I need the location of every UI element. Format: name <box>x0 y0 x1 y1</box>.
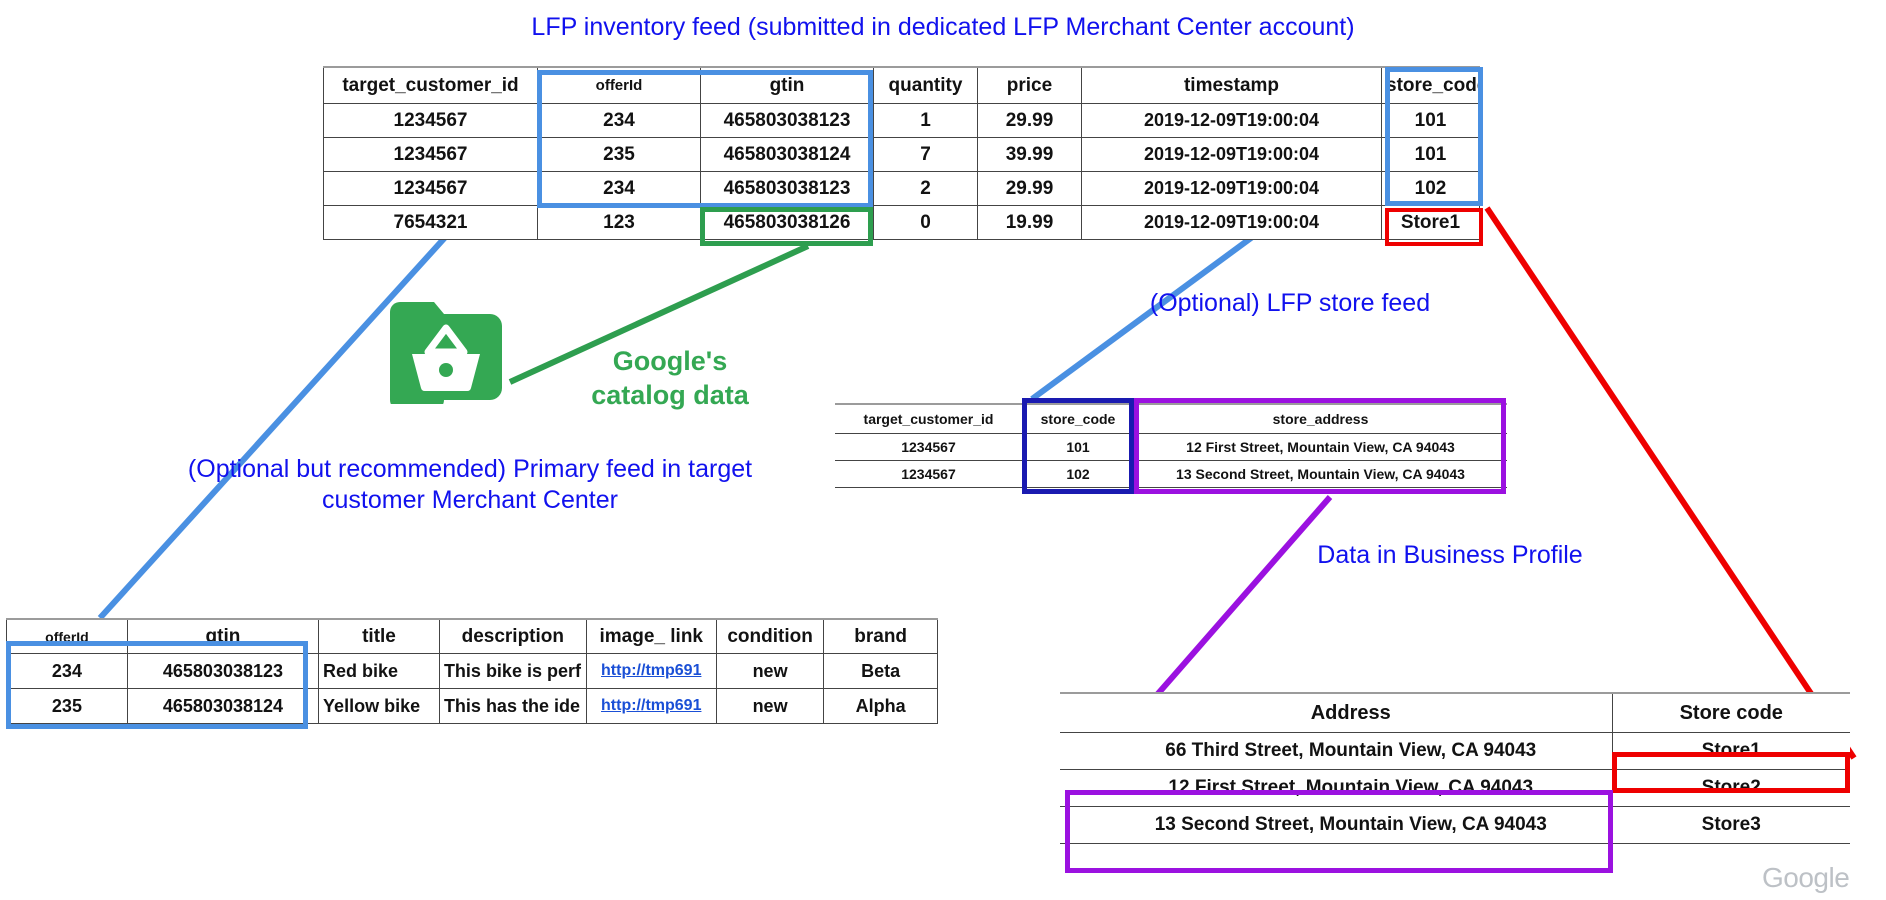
cell-address: 66 Third Street, Mountain View, CA 94043 <box>1090 733 1612 770</box>
title-business-profile: Data in Business Profile <box>1140 540 1760 571</box>
cell-spacer <box>1060 733 1090 770</box>
cell-target-customer-id: 1234567 <box>324 172 538 206</box>
cell-timestamp: 2019-12-09T19:00:04 <box>1082 138 1382 172</box>
title-primary-feed: (Optional but recommended) Primary feed … <box>160 454 780 516</box>
highlight-box-storefeed-store-code <box>1022 398 1134 494</box>
table-row: 1234567 234 465803038123 2 29.99 2019-12… <box>324 172 1480 206</box>
col-description: description <box>439 619 586 654</box>
cell-price: 19.99 <box>978 206 1082 240</box>
cell-title: Red bike <box>319 654 440 689</box>
cell-description: This bike is perf <box>439 654 586 689</box>
col-image-link: image_ link <box>586 619 716 654</box>
diagram-canvas: LFP inventory feed (submitted in dedicat… <box>0 0 1886 900</box>
cell-price: 29.99 <box>978 104 1082 138</box>
cell-brand: Alpha <box>824 689 938 724</box>
cell-description: This has the ide <box>439 689 586 724</box>
cell-quantity: 7 <box>874 138 978 172</box>
google-watermark: Google <box>1762 862 1849 894</box>
table-header-row: target_customer_id offerId gtin quantity… <box>324 67 1480 104</box>
cell-timestamp: 2019-12-09T19:00:04 <box>1082 172 1382 206</box>
cell-title: Yellow bike <box>319 689 440 724</box>
title-lfp-store-feed: (Optional) LFP store feed <box>1080 288 1500 319</box>
cell-image-link[interactable]: http://tmp691 <box>586 654 716 689</box>
lfp-inventory-feed-table: target_customer_id offerId gtin quantity… <box>323 66 1480 240</box>
highlight-box-primary-offerid-gtin <box>6 641 308 729</box>
cell-price: 39.99 <box>978 138 1082 172</box>
cell-target-customer-id: 1234567 <box>835 434 1022 461</box>
cell-timestamp: 2019-12-09T19:00:04 <box>1082 206 1382 240</box>
highlight-box-bp-store1 <box>1612 752 1850 793</box>
table-row: 7654321 123 465803038126 0 19.99 2019-12… <box>324 206 1480 240</box>
col-target-customer-id: target_customer_id <box>835 404 1022 434</box>
cell-target-customer-id: 7654321 <box>324 206 538 240</box>
cell-target-customer-id: 1234567 <box>835 461 1022 488</box>
col-address: Address <box>1090 693 1612 733</box>
col-timestamp: timestamp <box>1082 67 1382 104</box>
col-store-code: Store code <box>1612 693 1850 733</box>
cell-target-customer-id: 1234567 <box>324 104 538 138</box>
cell-brand: Beta <box>824 654 938 689</box>
highlight-box-bp-addresses <box>1065 790 1613 873</box>
col-title: title <box>319 619 440 654</box>
cell-quantity: 0 <box>874 206 978 240</box>
highlight-box-offerid-gtin <box>537 70 873 208</box>
table-row: 1234567 234 465803038123 1 29.99 2019-12… <box>324 104 1480 138</box>
col-brand: brand <box>824 619 938 654</box>
cell-condition: new <box>716 689 823 724</box>
cell-image-link[interactable]: http://tmp691 <box>586 689 716 724</box>
highlight-box-store1-inventory <box>1385 208 1483 246</box>
connector-red-store1 <box>1487 208 1854 758</box>
cell-store-code: Store3 <box>1612 807 1850 844</box>
highlight-box-store-code <box>1385 67 1483 206</box>
folder-basket-icon <box>382 294 510 404</box>
table-header-row: Address Store code <box>1060 693 1850 733</box>
cell-timestamp: 2019-12-09T19:00:04 <box>1082 104 1382 138</box>
col-condition: condition <box>716 619 823 654</box>
cell-quantity: 2 <box>874 172 978 206</box>
col-price: price <box>978 67 1082 104</box>
table-row: 1234567 235 465803038124 7 39.99 2019-12… <box>324 138 1480 172</box>
cell-offerid: 123 <box>538 206 701 240</box>
col-spacer <box>1060 693 1090 733</box>
col-target-customer-id: target_customer_id <box>324 67 538 104</box>
cell-price: 29.99 <box>978 172 1082 206</box>
cell-condition: new <box>716 654 823 689</box>
highlight-box-gtin-unmatched <box>700 207 873 246</box>
cell-target-customer-id: 1234567 <box>324 138 538 172</box>
title-lfp-inventory-feed: LFP inventory feed (submitted in dedicat… <box>343 12 1543 43</box>
highlight-box-storefeed-address <box>1134 398 1506 494</box>
catalog-data-label: Google's catalog data <box>560 344 780 412</box>
cell-quantity: 1 <box>874 104 978 138</box>
col-quantity: quantity <box>874 67 978 104</box>
